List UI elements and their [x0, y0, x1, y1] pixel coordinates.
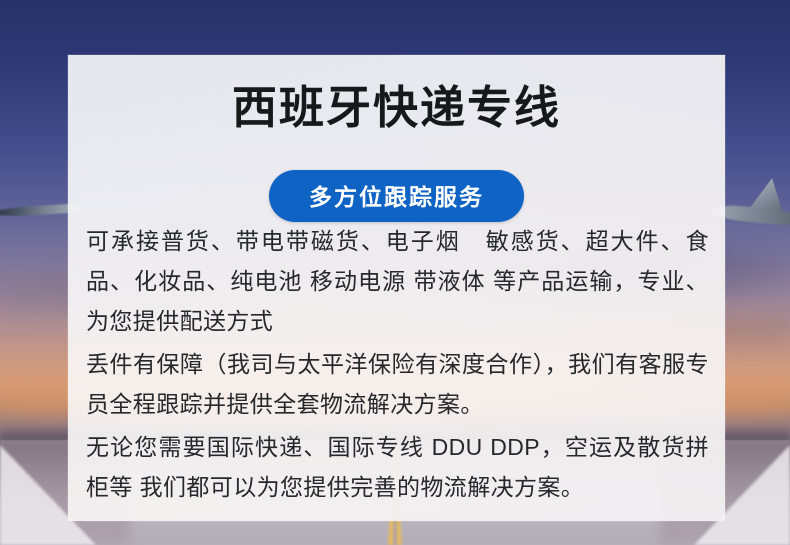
content-panel: 西班牙快递专线 多方位跟踪服务 可承接普货、带电带磁货、电子烟 敏感货、超大件、…: [68, 55, 725, 521]
promotional-banner: 西班牙快递专线 多方位跟踪服务 可承接普货、带电带磁货、电子烟 敏感货、超大件、…: [0, 0, 790, 545]
description-paragraph-2: 丢件有保障（我司与太平洋保险有深度合作），我们有客服专员全程跟踪并提供全套物流解…: [86, 344, 709, 424]
description-block: 可承接普货、带电带磁货、电子烟 敏感货、超大件、食品、化妆品、纯电池 移动电源 …: [86, 221, 709, 507]
description-paragraph-1: 可承接普货、带电带磁货、电子烟 敏感货、超大件、食品、化妆品、纯电池 移动电源 …: [86, 221, 709, 341]
service-badge: 多方位跟踪服务: [269, 170, 524, 222]
page-title: 西班牙快递专线: [68, 85, 725, 130]
badge-container: 多方位跟踪服务: [68, 170, 725, 222]
description-paragraph-3: 无论您需要国际快递、国际专线 DDU DDP，空运及散货拼柜等 我们都可以为您提…: [86, 427, 709, 507]
